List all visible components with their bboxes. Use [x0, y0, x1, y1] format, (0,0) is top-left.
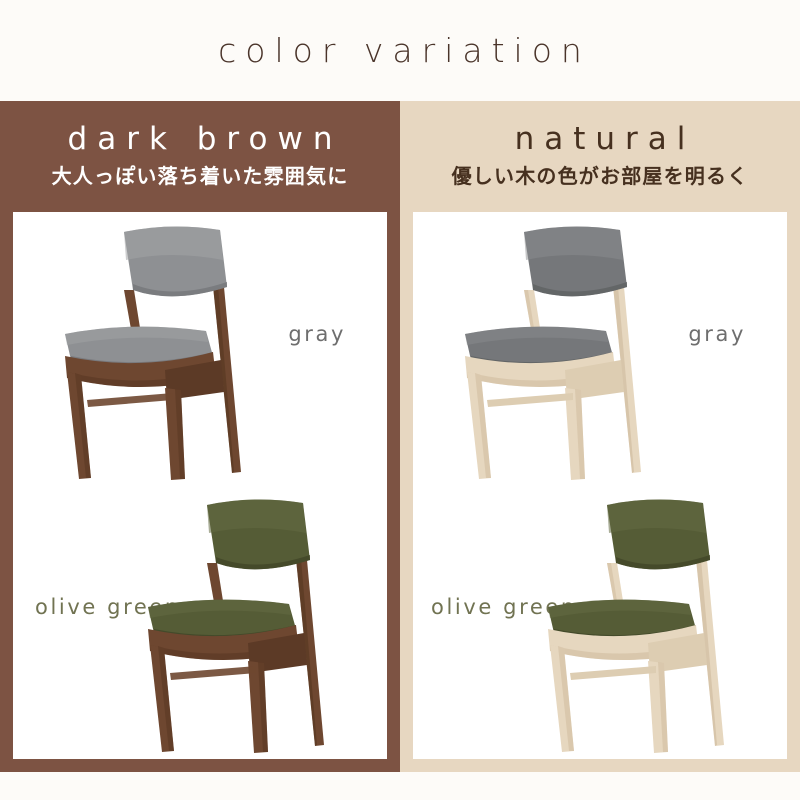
chair-illustration [61, 220, 276, 482]
chair-image-natural-gray [461, 220, 676, 482]
chair-stretcher [570, 666, 656, 680]
chair-illustration [461, 220, 676, 482]
color-variation-page: color variation dark brown 大人っぽい落ち着いた雰囲気… [0, 0, 800, 800]
swatch-label-dark-brown-gray: gray [288, 324, 346, 345]
chair-illustration [144, 493, 359, 755]
swatch-dark-brown-olive[interactable]: olive green [13, 485, 387, 758]
chair-stretcher [87, 393, 173, 407]
swatch-natural-olive[interactable]: olive green [413, 485, 787, 758]
panel-natural: natural 優しい木の色がお部屋を明るく gray [400, 101, 800, 772]
chair-image-dark-brown-olive [144, 493, 359, 755]
swatch-dark-brown-gray[interactable]: gray [13, 212, 387, 485]
panel-dark-brown: dark brown 大人っぽい落ち着いた雰囲気に gray [0, 101, 400, 772]
chair-backrest [124, 226, 227, 296]
chair-image-natural-olive [544, 493, 759, 755]
chair-backrest [607, 499, 710, 569]
panel-title-dark-brown: dark brown [58, 124, 343, 155]
chair-image-dark-brown-gray [61, 220, 276, 482]
panel-subtitle-dark-brown: 大人っぽい落ち着いた雰囲気に [52, 166, 349, 186]
swatch-label-natural-gray: gray [688, 324, 746, 345]
panel-title-natural: natural [505, 124, 696, 155]
panel-body-dark-brown: gray [13, 212, 387, 759]
swatch-natural-gray[interactable]: gray [413, 212, 787, 485]
panel-body-natural: gray [413, 212, 787, 759]
page-title: color variation [0, 0, 800, 101]
bottom-spacer [0, 772, 800, 800]
panel-container: dark brown 大人っぽい落ち着いた雰囲気に gray [0, 101, 800, 772]
chair-stretcher [170, 666, 256, 680]
chair-stretcher [487, 393, 573, 407]
panel-header-natural: natural 優しい木の色がお部屋を明るく [413, 101, 787, 212]
panel-header-dark-brown: dark brown 大人っぽい落ち着いた雰囲気に [13, 101, 387, 212]
chair-backrest [207, 499, 310, 569]
chair-backrest [524, 226, 627, 296]
chair-illustration [544, 493, 759, 755]
panel-subtitle-natural: 優しい木の色がお部屋を明るく [452, 166, 749, 186]
